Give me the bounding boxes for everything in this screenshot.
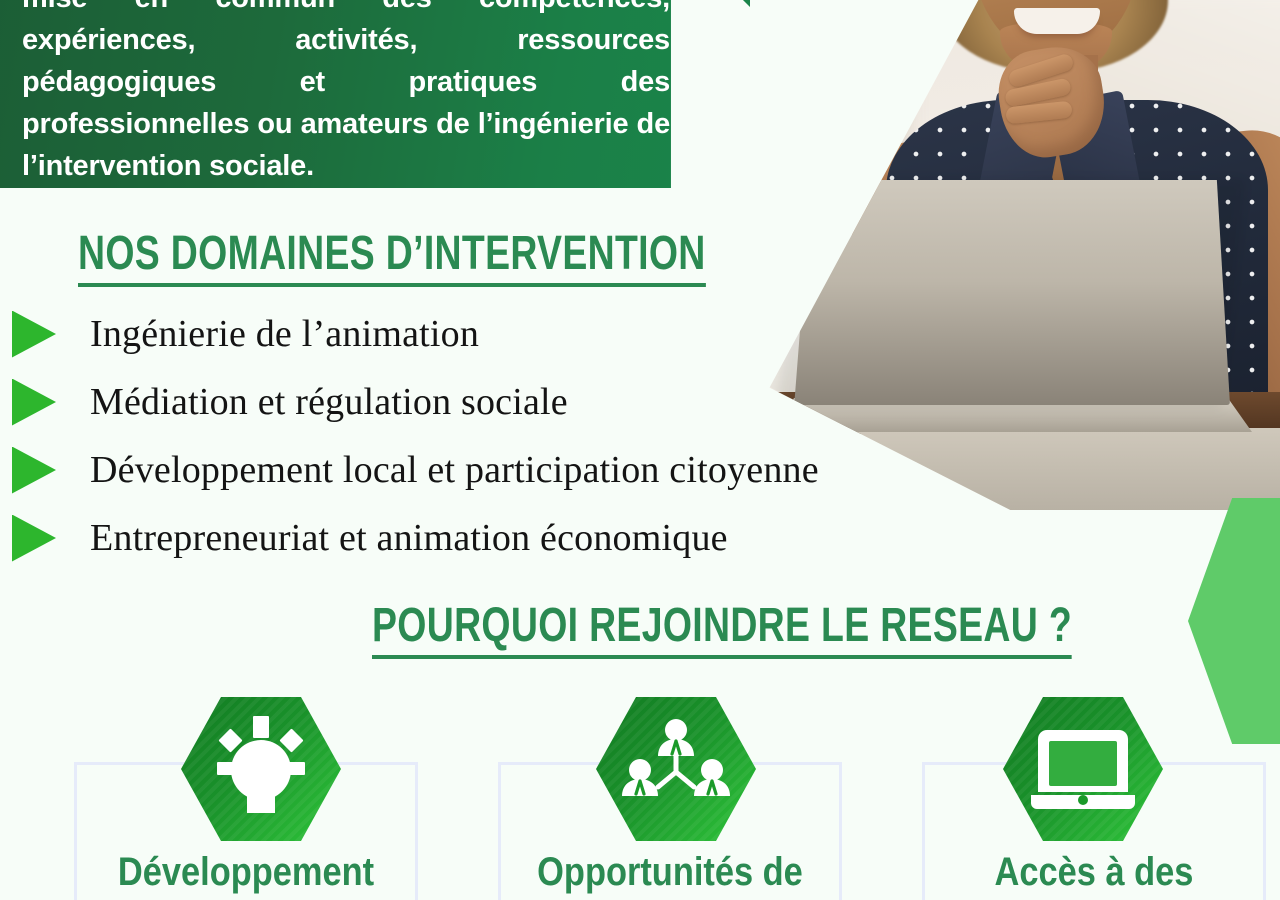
benefit-card-title: Accès à des [949, 849, 1240, 895]
poster-page: mise en commun des compétences, expérien… [0, 0, 1280, 900]
benefit-cards: Développement Opportunités de Accès à de… [0, 0, 1280, 900]
benefit-card-title: Opportunités de [525, 849, 816, 895]
benefit-card-title: Développement [101, 849, 392, 895]
